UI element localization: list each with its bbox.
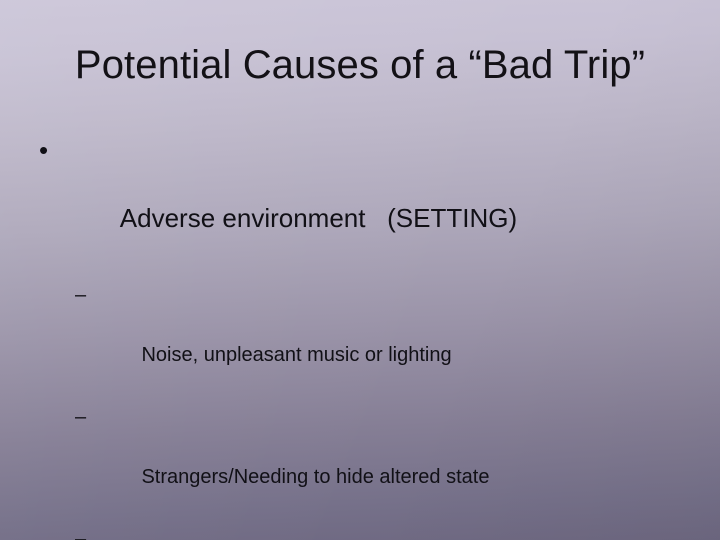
- slide-title: Potential Causes of a “Bad Trip”: [0, 41, 720, 89]
- sub-bullet-text: Noise, unpleasant music or lighting: [141, 344, 451, 366]
- sub-bullet-item-noise: – Noise, unpleasant music or lighting: [0, 280, 700, 400]
- sub-bullet-item-strangers: – Strangers/Needing to hide altered stat…: [0, 402, 700, 522]
- sub-bullet-marker-dash: –: [75, 402, 86, 432]
- sub-bullet-marker-dash: –: [75, 280, 86, 310]
- presentation-slide: Potential Causes of a “Bad Trip” • Adver…: [0, 0, 720, 540]
- bullet-marker-dot: •: [39, 133, 48, 167]
- bullet-text: Adverse environment (SETTING): [120, 203, 517, 233]
- sub-bullet-item-interpersonal-issues: – Difficult interpersonal issues btwn tr…: [0, 524, 700, 540]
- sub-bullet-text: Strangers/Needing to hide altered state: [141, 466, 489, 488]
- bullet-item-adverse-environment: • Adverse environment (SETTING): [0, 133, 700, 269]
- bullet-list: • Adverse environment (SETTING) – Noise,…: [0, 133, 700, 540]
- sub-bullet-marker-dash: –: [75, 524, 86, 540]
- slide-content: Potential Causes of a “Bad Trip” • Adver…: [0, 0, 720, 540]
